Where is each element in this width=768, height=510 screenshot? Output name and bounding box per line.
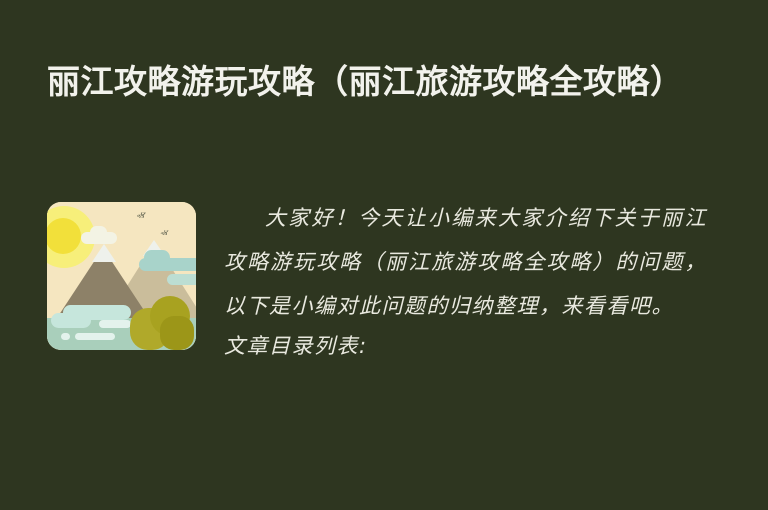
tree-icon-c: [160, 316, 194, 350]
mist-icon-d: [61, 333, 70, 340]
article-page: 丽江攻略游玩攻略（丽江旅游攻略全攻略） ⱏ ⱏ 大家好！今天: [0, 0, 768, 510]
mist-icon-b: [99, 320, 131, 328]
hero-illustration: ⱏ ⱏ: [47, 202, 196, 350]
snow-cap-icon-left: [92, 244, 116, 262]
page-title: 丽江攻略游玩攻略（丽江旅游攻略全攻略）: [47, 57, 687, 107]
cloud-icon-teal-small: [167, 274, 196, 285]
bird-icon-2: ⱏ: [159, 229, 168, 238]
mist-icon-a: [63, 305, 131, 320]
bird-icon-1: ⱏ: [135, 211, 145, 222]
cloud-icon-teal: [139, 258, 196, 271]
mist-icon-c: [75, 333, 115, 340]
article-body: ⱏ ⱏ 大家好！今天让小编来大家介绍下关于丽江攻略游玩攻略（丽江旅游攻略全攻略）…: [47, 196, 707, 364]
lead-paragraph-text: 大家好！今天让小编来大家介绍下关于丽江攻略游玩攻略（丽江旅游攻略全攻略）的问题，…: [224, 206, 707, 318]
